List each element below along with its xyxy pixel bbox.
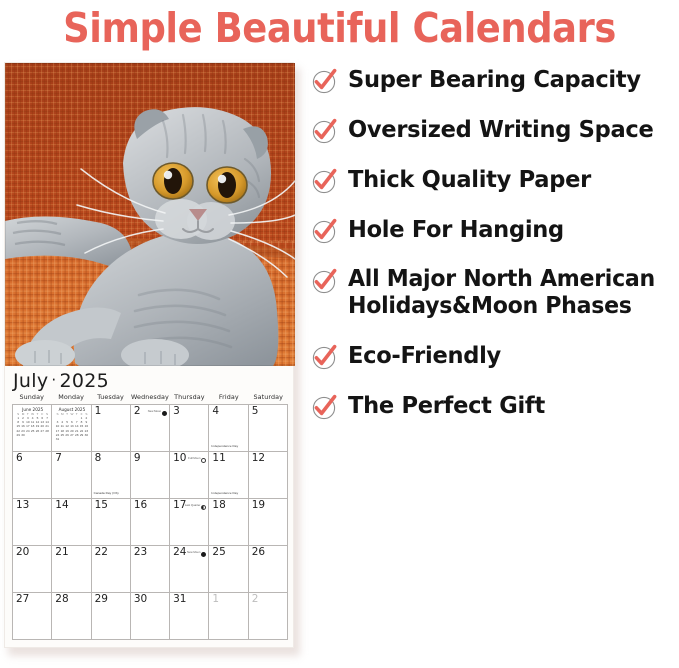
check-circle-icon (311, 118, 337, 144)
day-number: 4 (212, 406, 219, 418)
check-circle-icon (311, 218, 337, 244)
calendar-day-cell[interactable]: 6 (13, 452, 52, 499)
calendar-day-cell[interactable]: 20 (13, 546, 52, 593)
day-number: 11 (212, 453, 225, 465)
calendar-day-cell[interactable]: 27 (13, 593, 52, 640)
weekday-header: Wednesday (130, 393, 169, 404)
day-number: 19 (252, 500, 265, 512)
weekday-header-row: Sunday Monday Tuesday Wednesday Thursday… (12, 393, 288, 404)
mini-month-title: June 2025 (16, 407, 49, 412)
day-number: 16 (134, 500, 147, 512)
feature-label: Oversized Writing Space (348, 116, 654, 143)
day-number: 24 (173, 547, 186, 559)
calendar-day-cell[interactable]: 30 (131, 593, 170, 640)
mini-day: 24 (26, 430, 30, 434)
calendar-day-cell[interactable]: 1 (209, 593, 248, 640)
feature-label: Hole For Hanging (348, 216, 564, 243)
day-number: 31 (173, 594, 186, 606)
calendar-week-row: 678Canada Day (Ob)910Full Moon11Independ… (13, 452, 288, 499)
calendar-day-cell[interactable]: 9 (131, 452, 170, 499)
day-number: 10 (173, 453, 186, 465)
moon-phase-label: Full Moon (188, 456, 200, 460)
feature-label: Super Bearing Capacity (348, 66, 641, 93)
day-number: 14 (55, 500, 68, 512)
moon-phase-icon (162, 411, 167, 416)
day-number: 1 (95, 406, 102, 418)
day-number: 3 (173, 406, 180, 418)
page-title: Simple Beautiful Calendars (34, 4, 645, 53)
day-number: 26 (252, 547, 265, 559)
holiday-label: Canada Day (Ob) (94, 492, 128, 496)
calendar-day-cell[interactable]: August 2025SMTWTFS.....12345678910111213… (52, 405, 91, 452)
moon-phase-icon (201, 552, 206, 557)
calendar-month: July (13, 370, 48, 392)
feature-label-line: All Major North American (348, 266, 655, 293)
calendar-week-row: 272829303112 (13, 593, 288, 640)
mini-day: 28 (45, 430, 49, 434)
mini-day: 25 (30, 430, 34, 434)
day-number: 6 (16, 453, 23, 465)
feature-label-line: Hole For Hanging (348, 216, 564, 243)
check-circle-icon (311, 344, 337, 370)
calendar-day-cell[interactable]: 1 (92, 405, 131, 452)
feature-label-line: Thick Quality Paper (348, 166, 591, 193)
day-number: 25 (212, 547, 225, 559)
mini-day: 27 (40, 430, 44, 434)
weekday-header: Tuesday (91, 393, 130, 404)
feature-list: Super Bearing CapacityOversized Writing … (311, 66, 677, 420)
calendar-day-cell[interactable]: 13 (13, 499, 52, 546)
calendar-day-cell[interactable]: 5 (249, 405, 288, 452)
calendar-day-cell[interactable]: 19 (249, 499, 288, 546)
moon-phase-label: New Moon (148, 409, 161, 413)
calendar-page: July·2025 Sunday Monday Tuesday Wednesda… (4, 62, 294, 648)
day-number: 27 (16, 594, 29, 606)
check-circle-icon (311, 168, 337, 194)
moon-phase-icon (201, 505, 206, 510)
day-number: 28 (55, 594, 68, 606)
mini-day: 26 (35, 430, 39, 434)
day-number: 2 (252, 594, 259, 606)
day-number: 23 (134, 547, 147, 559)
feature-item: Thick Quality Paper (311, 166, 677, 194)
check-circle-icon (311, 68, 337, 94)
calendar-day-cell[interactable]: 11Independence Day (209, 452, 248, 499)
feature-label-line: Eco-Friendly (348, 342, 501, 369)
moon-phase-label: Last Quarter (185, 503, 201, 507)
day-number: 9 (134, 453, 141, 465)
calendar-month-title: July·2025 (13, 370, 109, 392)
calendar-day-cell[interactable]: 8Canada Day (Ob) (92, 452, 131, 499)
feature-item: Hole For Hanging (311, 216, 677, 244)
day-number: 12 (252, 453, 265, 465)
mini-month: August 2025SMTWTFS.....12345678910111213… (55, 407, 88, 442)
weekday-header: Thursday (170, 393, 209, 404)
calendar-day-cell[interactable]: 16 (131, 499, 170, 546)
calendar-day-cell[interactable]: 29 (92, 593, 131, 640)
calendar-week-rows: June 2025SMTWTFS123456789101112131415161… (12, 404, 288, 640)
mini-month-title: August 2025 (55, 407, 88, 412)
mini-day: 30 (84, 434, 88, 438)
day-number: 7 (55, 453, 62, 465)
day-number: 18 (212, 500, 225, 512)
feature-label: All Major North AmericanHolidays&Moon Ph… (348, 266, 655, 320)
calendar-day-cell[interactable]: 18 (209, 499, 248, 546)
calendar-day-cell[interactable]: 26 (249, 546, 288, 593)
calendar-week-row: 1314151617Last Quarter1819 (13, 499, 288, 546)
calendar-week-row: 2021222324New Moon2526 (13, 546, 288, 593)
feature-label: Thick Quality Paper (348, 166, 591, 193)
holiday-label: Independence Day (211, 492, 245, 496)
mini-day: 29 (79, 434, 83, 438)
calendar-title-separator: · (48, 371, 59, 389)
day-number: 15 (95, 500, 108, 512)
day-number: 20 (16, 547, 29, 559)
calendar-day-cell[interactable]: 28 (52, 593, 91, 640)
calendar-day-cell[interactable]: 31 (170, 593, 209, 640)
mini-day: 28 (75, 434, 79, 438)
feature-item: The Perfect Gift (311, 392, 677, 420)
mini-day: 29 (16, 434, 20, 438)
feature-item: Super Bearing Capacity (311, 66, 677, 94)
feature-label-line: The Perfect Gift (348, 392, 545, 419)
mini-month: June 2025SMTWTFS123456789101112131415161… (16, 407, 49, 438)
moon-phase-icon (201, 458, 206, 463)
mini-day: 26 (65, 434, 69, 438)
holiday-label: Independence Day (211, 445, 245, 449)
calendar-day-cell[interactable]: 22 (92, 546, 131, 593)
mini-month-grid: SMTWTFS123456789101112131415161718192021… (16, 413, 49, 438)
calendar-day-cell[interactable]: 2 (249, 593, 288, 640)
feature-item: Eco-Friendly (311, 342, 677, 370)
calendar-product: July·2025 Sunday Monday Tuesday Wednesda… (4, 62, 296, 652)
calendar-day-cell[interactable]: 3 (170, 405, 209, 452)
calendar-day-cell[interactable]: 24New Moon (170, 546, 209, 593)
day-number: 8 (95, 453, 102, 465)
mini-day: 31 (55, 438, 59, 442)
feature-label: Eco-Friendly (348, 342, 501, 369)
day-number: 29 (95, 594, 108, 606)
day-number: 22 (95, 547, 108, 559)
calendar-day-cell[interactable]: 25 (209, 546, 248, 593)
calendar-day-cell[interactable]: 2New Moon (131, 405, 170, 452)
mini-day: 27 (70, 434, 74, 438)
check-circle-icon (311, 394, 337, 420)
calendar-day-cell[interactable]: 14 (52, 499, 91, 546)
calendar-grid: Sunday Monday Tuesday Wednesday Thursday… (12, 393, 288, 640)
calendar-day-cell[interactable]: 10Full Moon (170, 452, 209, 499)
mini-day: 25 (60, 434, 64, 438)
check-circle-icon (311, 268, 337, 294)
feature-label-line: Holidays&Moon Phases (348, 293, 655, 320)
mini-day: 30 (21, 434, 25, 438)
calendar-day-cell[interactable]: 17Last Quarter (170, 499, 209, 546)
calendar-day-cell[interactable]: 15 (92, 499, 131, 546)
weekday-header: Sunday (12, 393, 51, 404)
feature-item: Oversized Writing Space (311, 116, 677, 144)
calendar-day-cell[interactable]: 12 (249, 452, 288, 499)
calendar-year: 2025 (59, 370, 109, 392)
calendar-day-cell[interactable]: June 2025SMTWTFS123456789101112131415161… (13, 405, 52, 452)
day-number: 13 (16, 500, 29, 512)
day-number: 21 (55, 547, 68, 559)
feature-label: The Perfect Gift (348, 392, 545, 419)
day-number: 30 (134, 594, 147, 606)
feature-label-line: Oversized Writing Space (348, 116, 654, 143)
feature-item: All Major North AmericanHolidays&Moon Ph… (311, 266, 677, 320)
day-number: 2 (134, 406, 141, 418)
calendar-day-cell[interactable]: 4Independence Day (209, 405, 248, 452)
calendar-day-cell[interactable]: 23 (131, 546, 170, 593)
weekday-header: Saturday (249, 393, 288, 404)
calendar-day-cell[interactable]: 21 (52, 546, 91, 593)
weekday-header: Monday (51, 393, 90, 404)
feature-label-line: Super Bearing Capacity (348, 66, 641, 93)
cat-photo (5, 63, 295, 366)
calendar-week-row: June 2025SMTWTFS123456789101112131415161… (13, 405, 288, 452)
weekday-header: Friday (209, 393, 248, 404)
day-number: 1 (212, 594, 219, 606)
moon-phase-label: New Moon (187, 550, 200, 554)
mini-month-grid: SMTWTFS.....1234567891011121314151617181… (55, 413, 88, 442)
day-number: 5 (252, 406, 259, 418)
calendar-day-cell[interactable]: 7 (52, 452, 91, 499)
